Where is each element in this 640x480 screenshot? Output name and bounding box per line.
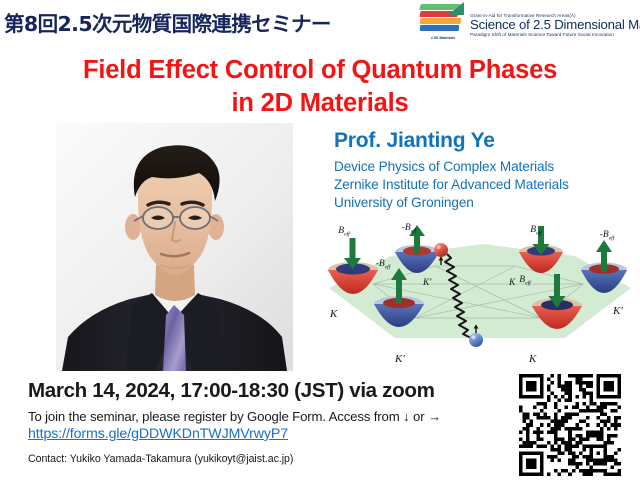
seminar-poster: 第8回2.5次元物質国際連携セミナー 2.5D Materials Grant-… — [0, 0, 640, 480]
logo-program-name: Science of 2.5 Dimensional Materials — [470, 18, 640, 33]
stacked-books-icon — [418, 2, 464, 36]
logo-mark-icon: 2.5D Materials — [418, 2, 464, 46]
project-logo: 2.5D Materials Grant-in-Aid for Transfor… — [418, 2, 640, 46]
speaker-affiliations: Device Physics of Complex Materials Zern… — [334, 158, 634, 211]
speaker-info: Prof. Jianting Ye Device Physics of Comp… — [334, 129, 634, 212]
book-corner-triangle-icon — [448, 2, 464, 15]
speaker-portrait-illustration — [56, 123, 293, 371]
affiliation-line-2: Zernike Institute for Advanced Materials — [334, 176, 634, 194]
beff-label-far-left: Beff — [338, 226, 351, 237]
k-label-bottom-right: K — [528, 353, 537, 365]
brillouin-plane — [329, 244, 631, 338]
google-form-link[interactable]: https://forms.gle/gDDWKDnTWJMVrwyP7 — [28, 426, 288, 442]
qr-code-icon[interactable] — [519, 374, 621, 476]
k-label-left: K — [329, 308, 338, 320]
kp-label-right: K' — [612, 305, 623, 317]
beff-label-far-right: -Beff — [600, 230, 616, 241]
kp-label-bottom-left: K' — [394, 353, 405, 365]
brillouin-zone-illustration: Beff -Beff -Beff Beff Beff -Beff — [313, 222, 639, 370]
logo-text-block: Grant-in-Aid for Transformative Research… — [470, 11, 640, 38]
seminar-title-line-1: Field Effect Control of Quantum Phases — [0, 54, 640, 87]
valley-physics-diagram: Beff -Beff -Beff Beff Beff -Beff — [313, 222, 639, 370]
beff-label-upper-left: -Beff — [402, 223, 418, 234]
seminar-datetime: March 14, 2024, 17:00-18:30 (JST) via zo… — [28, 379, 435, 403]
book-layer-blue-icon — [420, 25, 459, 31]
seminar-title: Field Effect Control of Quantum Phases i… — [0, 54, 640, 119]
contact-info: Contact: Yukiko Yamada-Takamura (yukikoy… — [28, 453, 293, 465]
speaker-name: Prof. Jianting Ye — [334, 129, 634, 153]
registration-instruction: To join the seminar, please register by … — [28, 409, 441, 424]
seminar-title-line-2: in 2D Materials — [0, 87, 640, 120]
logo-caption: 2.5D Materials — [418, 36, 468, 40]
k-label-upper-right: K — [508, 278, 516, 288]
speaker-photo — [56, 123, 293, 371]
affiliation-line-3: University of Groningen — [334, 194, 634, 212]
japanese-series-title: 第8回2.5次元物質国際連携セミナー — [4, 14, 331, 35]
logo-tagline: Paradigm Shift of Materials Science Towa… — [470, 32, 640, 37]
kp-label-upper-left: K' — [422, 278, 432, 288]
book-layer-orange-icon — [420, 18, 462, 24]
affiliation-line-1: Device Physics of Complex Materials — [334, 158, 634, 176]
registration-qr-code[interactable] — [519, 374, 621, 476]
